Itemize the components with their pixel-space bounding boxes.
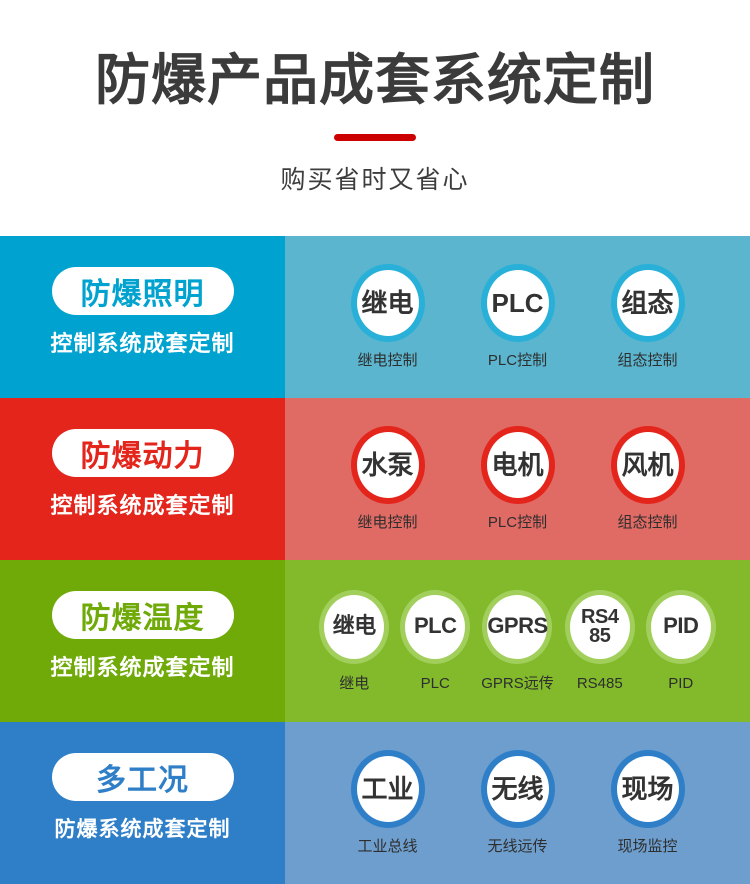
chip-temp-relay-circle: 继电	[319, 590, 389, 664]
row-temperature-caption: 控制系统成套定制	[0, 652, 285, 684]
chip-wireless-circle: 无线	[481, 750, 555, 828]
chip-motor[interactable]: 电机 PLC控制	[481, 426, 555, 532]
row-power-chip-list: 水泵 继电控制 电机 PLC控制 风机 组态控制	[285, 398, 750, 560]
page-title: 防爆产品成套系统定制	[0, 48, 750, 112]
chip-scada[interactable]: 组态 组态控制	[611, 264, 685, 370]
category-row-temperature: 防爆温度 控制系统成套定制 继电 继电 PLC PLC GPRS GPRS远传	[0, 560, 750, 722]
row-power-caption: 控制系统成套定制	[0, 490, 285, 522]
category-row-multimode: 多工况 防爆系统成套定制 工业 工业总线 无线 无线远传 现场 现场监控	[0, 722, 750, 884]
chip-temp-gprs-circle: GPRS	[482, 590, 552, 664]
chip-water-pump-circle: 水泵	[351, 426, 425, 504]
chip-temp-gprs[interactable]: GPRS GPRS远传	[481, 590, 554, 693]
category-row-lighting: 防爆照明 控制系统成套定制 继电 继电控制 PLC PLC控制 组态 组态控制	[0, 236, 750, 398]
chip-motor-circle: 电机	[481, 426, 555, 504]
chip-water-pump[interactable]: 水泵 继电控制	[351, 426, 425, 532]
chip-temp-relay-label: 继电	[339, 674, 369, 693]
chip-onsite-monitor-label: 现场监控	[617, 837, 677, 856]
chip-plc-circle: PLC	[481, 264, 555, 342]
chip-temp-plc-label: PLC	[421, 674, 450, 693]
chip-scada-label: 组态控制	[617, 351, 677, 370]
chip-industrial-bus-circle: 工业	[351, 750, 425, 828]
row-power-right-panel: 水泵 继电控制 电机 PLC控制 风机 组态控制	[285, 398, 750, 560]
chip-temp-gprs-label: GPRS远传	[481, 674, 554, 693]
banner-header: 防爆产品成套系统定制 购买省时又省心	[0, 0, 750, 236]
row-multimode-caption: 防爆系统成套定制	[0, 814, 285, 846]
row-multimode-badge: 多工况	[52, 753, 234, 801]
chip-temp-plc[interactable]: PLC PLC	[400, 590, 470, 693]
chip-fan-circle: 风机	[611, 426, 685, 504]
chip-scada-circle: 组态	[611, 264, 685, 342]
chip-temp-rs485-circle: RS485	[565, 590, 635, 664]
page-subtitle: 购买省时又省心	[0, 163, 750, 197]
row-lighting-chip-list: 继电 继电控制 PLC PLC控制 组态 组态控制	[285, 236, 750, 398]
chip-temp-relay[interactable]: 继电 继电	[319, 590, 389, 693]
chip-wireless-label: 无线远传	[487, 837, 547, 856]
chip-onsite-monitor[interactable]: 现场 现场监控	[611, 750, 685, 856]
row-lighting-left-panel: 防爆照明 控制系统成套定制	[0, 236, 285, 398]
row-temperature-left-panel: 防爆温度 控制系统成套定制	[0, 560, 285, 722]
chip-wireless[interactable]: 无线 无线远传	[481, 750, 555, 856]
row-temperature-badge: 防爆温度	[52, 591, 234, 639]
chip-industrial-bus-label: 工业总线	[357, 837, 417, 856]
chip-relay-label: 继电控制	[357, 351, 417, 370]
chip-fan-label: 组态控制	[617, 513, 677, 532]
row-power-badge: 防爆动力	[52, 429, 234, 477]
row-lighting-badge: 防爆照明	[52, 267, 234, 315]
chip-plc[interactable]: PLC PLC控制	[481, 264, 555, 370]
chip-relay[interactable]: 继电 继电控制	[351, 264, 425, 370]
chip-plc-label: PLC控制	[488, 351, 547, 370]
chip-water-pump-label: 继电控制	[357, 513, 417, 532]
chip-temp-rs485[interactable]: RS485 RS485	[565, 590, 635, 693]
row-lighting-caption: 控制系统成套定制	[0, 328, 285, 360]
row-power-left-panel: 防爆动力 控制系统成套定制	[0, 398, 285, 560]
chip-temp-rs485-label: RS485	[577, 674, 623, 693]
chip-temp-pid-label: PID	[668, 674, 693, 693]
chip-temp-pid[interactable]: PID PID	[646, 590, 716, 693]
row-lighting-right-panel: 继电 继电控制 PLC PLC控制 组态 组态控制	[285, 236, 750, 398]
row-multimode-chip-list: 工业 工业总线 无线 无线远传 现场 现场监控	[285, 722, 750, 884]
chip-temp-pid-circle: PID	[646, 590, 716, 664]
promo-banner: 防爆产品成套系统定制 购买省时又省心 防爆照明 控制系统成套定制 继电 继电控制…	[0, 0, 750, 883]
title-divider	[334, 134, 416, 141]
row-temperature-right-panel: 继电 继电 PLC PLC GPRS GPRS远传 RS485 RS485 PI…	[285, 560, 750, 722]
chip-relay-circle: 继电	[351, 264, 425, 342]
row-multimode-right-panel: 工业 工业总线 无线 无线远传 现场 现场监控	[285, 722, 750, 884]
row-multimode-left-panel: 多工况 防爆系统成套定制	[0, 722, 285, 884]
chip-onsite-monitor-circle: 现场	[611, 750, 685, 828]
row-temperature-chip-list: 继电 继电 PLC PLC GPRS GPRS远传 RS485 RS485 PI…	[285, 560, 750, 722]
chip-industrial-bus[interactable]: 工业 工业总线	[351, 750, 425, 856]
chip-motor-label: PLC控制	[488, 513, 547, 532]
chip-fan[interactable]: 风机 组态控制	[611, 426, 685, 532]
chip-temp-plc-circle: PLC	[400, 590, 470, 664]
category-row-power: 防爆动力 控制系统成套定制 水泵 继电控制 电机 PLC控制 风机 组态控制	[0, 398, 750, 560]
